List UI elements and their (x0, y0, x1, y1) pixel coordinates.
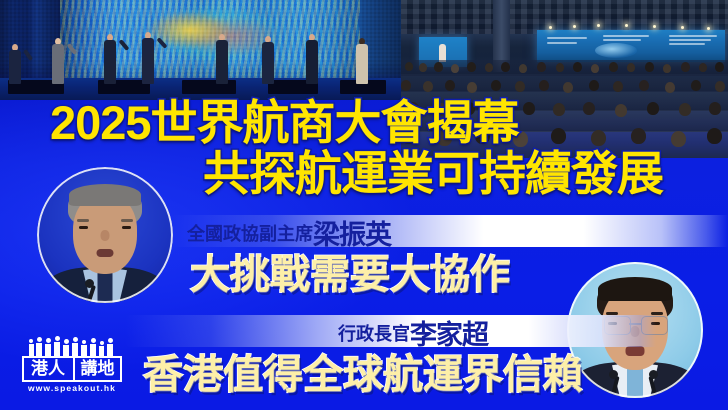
speaker-2-name: 李家超 (410, 320, 488, 350)
logo-people-silhouette-icon (26, 336, 118, 356)
speaker-2-quote: 香港值得全球航運界信賴 (143, 355, 583, 395)
speaker-1-quote: 大挑戰需要大協作 (190, 255, 510, 295)
logo-url: www.speakout.hk (22, 383, 122, 393)
hall-ceiling-grid (401, 0, 728, 34)
speakout-hk-logo[interactable]: 港人 講地 www.speakout.hk (22, 336, 122, 396)
logo-word-2: 講地 (75, 358, 120, 380)
speaker-1-title: 全國政協副主席 (187, 224, 313, 244)
headline-line-2: 共探航運業可持續發展 (203, 150, 663, 197)
news-graphic-canvas: 2025世界航商大會揭幕 共探航運業可持續發展 全國政協副主席梁振英 大挑戰需要… (0, 0, 728, 410)
headline-line-1: 2025世界航商大會揭幕 (50, 99, 519, 146)
logo-wordmark-box: 港人 講地 (22, 356, 122, 382)
speaker-2-attribution: 行政長官李家超 (338, 322, 488, 349)
stage-opening-ceremony-photo (0, 0, 401, 100)
logo-word-1: 港人 (24, 358, 72, 380)
portrait-leung-chun-ying (37, 167, 173, 303)
speaker-1-attribution: 全國政協副主席梁振英 (187, 222, 391, 249)
speaker-2-title: 行政長官 (338, 324, 410, 344)
speaker-1-name: 梁振英 (313, 220, 391, 250)
